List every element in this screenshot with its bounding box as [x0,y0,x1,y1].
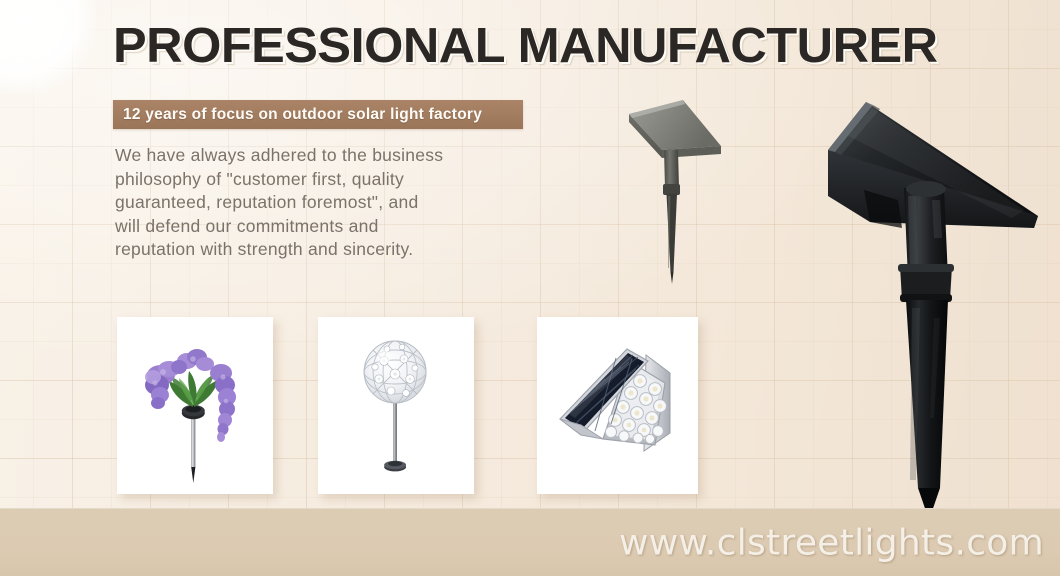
page-title: PROFESSIONAL MANUFACTURER [113,22,938,71]
small-solar-garden-spike-light-icon [615,88,785,288]
body-paragraph: We have always adhered to the business p… [115,144,565,262]
product-thumbnail-card[interactable] [537,317,698,494]
decorative-light-blob [0,0,98,94]
wedge-solar-wall-light-16-led-icon [537,317,698,494]
subtitle-banner-label: 12 years of focus on outdoor solar light… [123,106,482,124]
website-url[interactable]: www.clstreetlights.com [619,522,1044,563]
crystal-dandelion-ball-solar-light-icon [318,317,474,494]
product-thumbnail-card[interactable] [318,317,474,494]
subtitle-banner: 12 years of focus on outdoor solar light… [113,100,523,129]
product-thumbnail-card[interactable] [117,317,273,494]
product-photo-large [828,88,1060,526]
footer-bar: www.clstreetlights.com [0,508,1060,576]
product-photo-small [615,88,785,288]
large-black-solar-spike-light-icon [828,88,1060,526]
wisteria-flower-solar-stake-light-icon [117,317,273,494]
promo-banner-stage: PROFESSIONAL MANUFACTURER 12 years of fo… [0,0,1060,576]
